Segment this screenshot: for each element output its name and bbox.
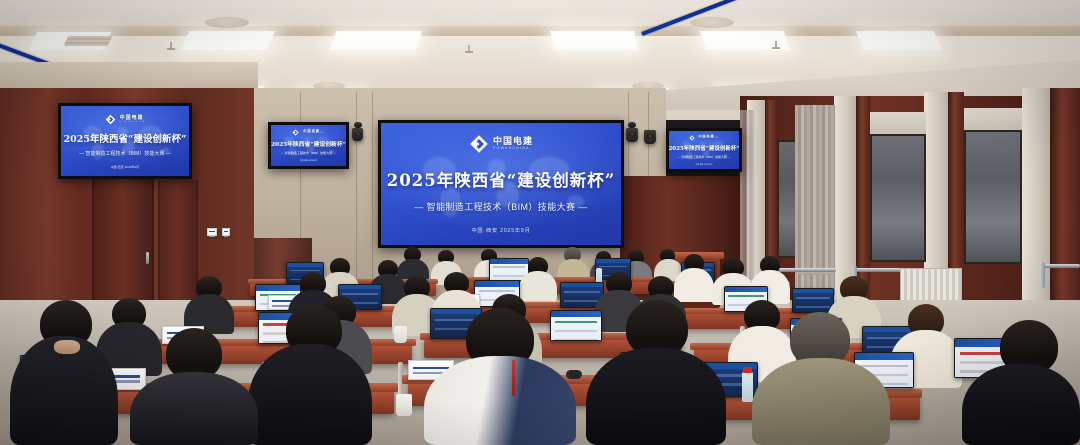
slide-title: 2025年陕西省“建设创新杯” bbox=[668, 144, 739, 152]
slide-subtitle: — 智能制造工程技术（BIM）技能大赛 — bbox=[79, 150, 171, 157]
participant-laptop[interactable] bbox=[550, 310, 602, 341]
ceiling-panel-light bbox=[856, 31, 942, 50]
attendee-body bbox=[674, 268, 714, 302]
camera-icon bbox=[628, 122, 636, 128]
wall-seam bbox=[372, 92, 373, 292]
attendee-body-foreground bbox=[962, 364, 1080, 445]
slide-footer: 中国·西安 2025年9月 bbox=[300, 159, 318, 162]
laptop-screen bbox=[551, 311, 601, 340]
left-upper-wall bbox=[0, 62, 258, 88]
ceiling-panel-light bbox=[181, 31, 275, 50]
powerchina-diamond-logo bbox=[292, 129, 299, 136]
slide-footer: 中国·西安 2025年9月 bbox=[471, 227, 530, 234]
paper-cup[interactable] bbox=[394, 326, 407, 343]
powerchina-logo: 中国电建 POWERCHINA bbox=[689, 135, 720, 141]
slide-subtitle: — 智能制造工程技术（BIM）技能大赛 — bbox=[678, 155, 731, 159]
lanyard bbox=[512, 360, 515, 396]
sprinkler-head bbox=[468, 45, 470, 53]
attendee-body-foreground bbox=[424, 356, 576, 445]
attendee-neck bbox=[54, 340, 80, 354]
attendee-body-foreground bbox=[752, 358, 890, 445]
laptop-screen bbox=[793, 289, 833, 312]
wall-switch-plate[interactable] bbox=[222, 228, 230, 236]
conference-hall-photo: 中国电建 POWERCHINA 2025年陕西省“建设创新杯” — 智能制造工程… bbox=[0, 0, 1080, 445]
window-railing bbox=[1040, 264, 1080, 268]
slide-content: 中国电建 POWERCHINA 2025年陕西省“建设创新杯” — 智能制造工程… bbox=[61, 106, 189, 176]
powerchina-logo: 中国电建 POWERCHINA bbox=[105, 114, 146, 125]
logo-english-text: POWERCHINA bbox=[493, 147, 533, 151]
wall-speaker bbox=[626, 128, 638, 142]
slide-footer: 中国·西安 2025年9月 bbox=[696, 163, 713, 166]
window-blind[interactable] bbox=[870, 112, 926, 134]
wall-speaker bbox=[352, 128, 363, 141]
laptop-lid bbox=[550, 310, 602, 341]
water-bottle[interactable] bbox=[742, 372, 753, 402]
bottle-cap bbox=[743, 367, 752, 373]
wall-switch-plate[interactable] bbox=[207, 228, 217, 236]
window bbox=[964, 130, 1022, 264]
radiator bbox=[900, 268, 962, 302]
right-wall-tv[interactable]: 中国电建 POWERCHINA 2025年陕西省“建设创新杯” — 智能制造工程… bbox=[666, 128, 742, 172]
paper-cup[interactable] bbox=[396, 394, 412, 416]
left-wall-tv[interactable]: 中国电建 POWERCHINA 2025年陕西省“建设创新杯” — 智能制造工程… bbox=[58, 103, 192, 179]
slide-title: 2025年陕西省“建设创新杯” bbox=[387, 167, 615, 191]
window bbox=[870, 134, 926, 262]
attendee-body-foreground bbox=[130, 372, 258, 445]
window-blind[interactable] bbox=[964, 108, 1022, 130]
slide-subtitle: — 智能制造工程技术（BIM）技能大赛 — bbox=[414, 200, 587, 213]
slide-footer: 中国·西安 2025年9月 bbox=[111, 165, 139, 169]
participant-laptop[interactable] bbox=[792, 288, 834, 313]
ac-vent-grille bbox=[64, 36, 113, 46]
powerchina-logo: 中国电建 POWERCHINA bbox=[292, 129, 325, 136]
door-handle[interactable] bbox=[146, 252, 149, 264]
ceiling-panel-light bbox=[550, 31, 637, 50]
slide-subtitle: — 智能制造工程技术（BIM）技能大赛 — bbox=[281, 151, 336, 155]
ceiling-vent bbox=[690, 17, 734, 28]
laptop-lid bbox=[792, 288, 834, 313]
camera-icon bbox=[354, 122, 362, 128]
slide-title: 2025年陕西省“建设创新杯” bbox=[64, 131, 187, 145]
powerchina-logo: 中国电建 POWERCHINA bbox=[469, 134, 533, 154]
left-inner-tv[interactable]: 中国电建 POWERCHINA 2025年陕西省“建设创新杯” — 智能制造工程… bbox=[268, 122, 349, 169]
ceiling-soffit-left bbox=[0, 0, 1080, 26]
slide-title: 2025年陕西省“建设创新杯” bbox=[271, 139, 346, 148]
slide-content: 中国电建 POWERCHINA 2025年陕西省“建设创新杯” — 智能制造工程… bbox=[381, 123, 621, 245]
sprinkler-head bbox=[170, 42, 172, 50]
logo-english-text: POWERCHINA bbox=[303, 133, 325, 134]
slide-content: 中国电建 POWERCHINA 2025年陕西省“建设创新杯” — 智能制造工程… bbox=[271, 125, 346, 166]
ceiling-vent bbox=[205, 17, 249, 28]
window-curtain[interactable] bbox=[740, 110, 754, 280]
attendee-body-foreground bbox=[586, 348, 726, 445]
powerchina-diamond-logo bbox=[469, 134, 489, 154]
logo-english-text: POWERCHINA bbox=[699, 138, 720, 139]
attendee-body-foreground bbox=[248, 344, 372, 445]
logo-chinese-text: 中国电建 bbox=[493, 137, 533, 146]
powerchina-diamond-logo bbox=[105, 114, 116, 125]
logo-english-text: POWERCHINA bbox=[120, 121, 146, 123]
wall-pillar bbox=[1022, 88, 1050, 320]
sprinkler-head bbox=[775, 41, 777, 49]
attendee-body bbox=[519, 271, 557, 301]
ceiling-panel-light bbox=[330, 31, 422, 50]
powerchina-diamond-logo bbox=[689, 135, 695, 141]
wall-speaker bbox=[644, 130, 656, 144]
main-led-screen[interactable]: 中国电建 POWERCHINA 2025年陕西省“建设创新杯” — 智能制造工程… bbox=[378, 120, 624, 248]
railing-post bbox=[1040, 262, 1045, 288]
window-curtain[interactable] bbox=[795, 105, 835, 295]
slide-content: 中国电建 POWERCHINA 2025年陕西省“建设创新杯” — 智能制造工程… bbox=[669, 131, 739, 169]
wall-pillar-wood bbox=[1050, 88, 1080, 322]
